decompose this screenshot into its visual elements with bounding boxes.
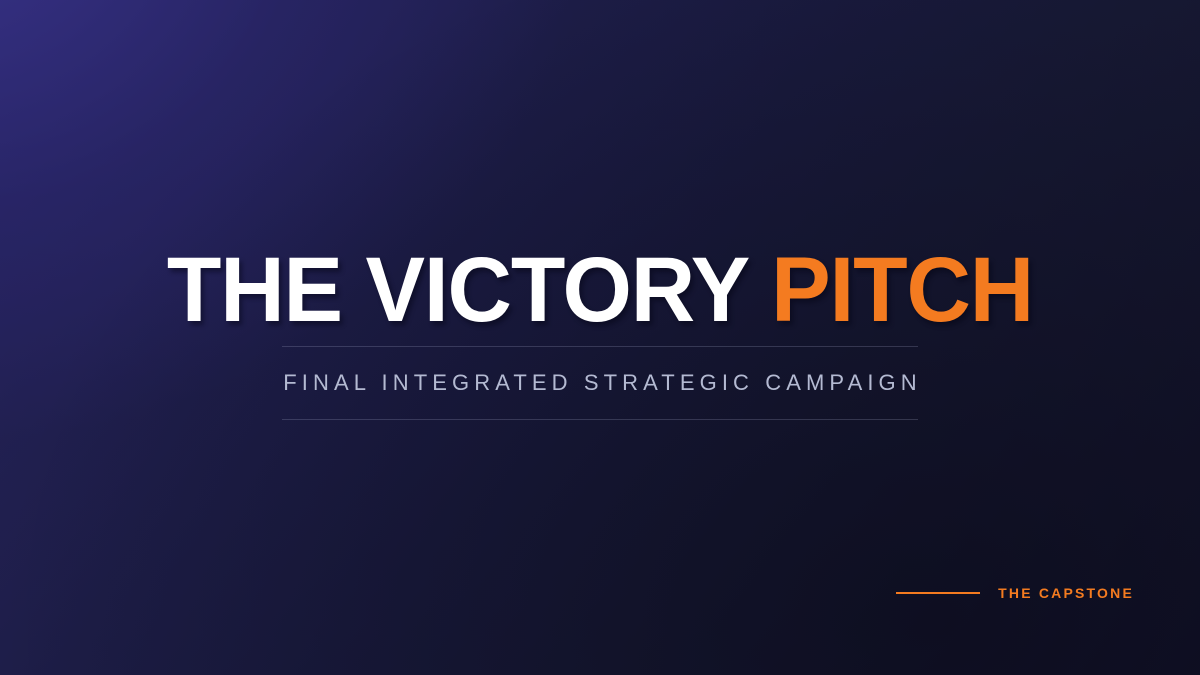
page-title: THE VICTORY PITCH [18, 244, 1182, 336]
title-slide: THE VICTORY PITCH FINAL INTEGRATED STRAT… [0, 0, 1200, 675]
title-lead-text: THE VICTORY [167, 239, 771, 341]
subtitle-band: FINAL INTEGRATED STRATEGIC CAMPAIGN [282, 346, 918, 420]
title-accent-text: PITCH [771, 239, 1033, 341]
title-block: THE VICTORY PITCH [0, 244, 1200, 336]
capstone-label: THE CAPSTONE [998, 586, 1134, 600]
horizontal-rule-icon [896, 592, 980, 594]
subtitle-text: FINAL INTEGRATED STRATEGIC CAMPAIGN [278, 372, 922, 394]
capstone-tag: THE CAPSTONE [896, 586, 1134, 600]
